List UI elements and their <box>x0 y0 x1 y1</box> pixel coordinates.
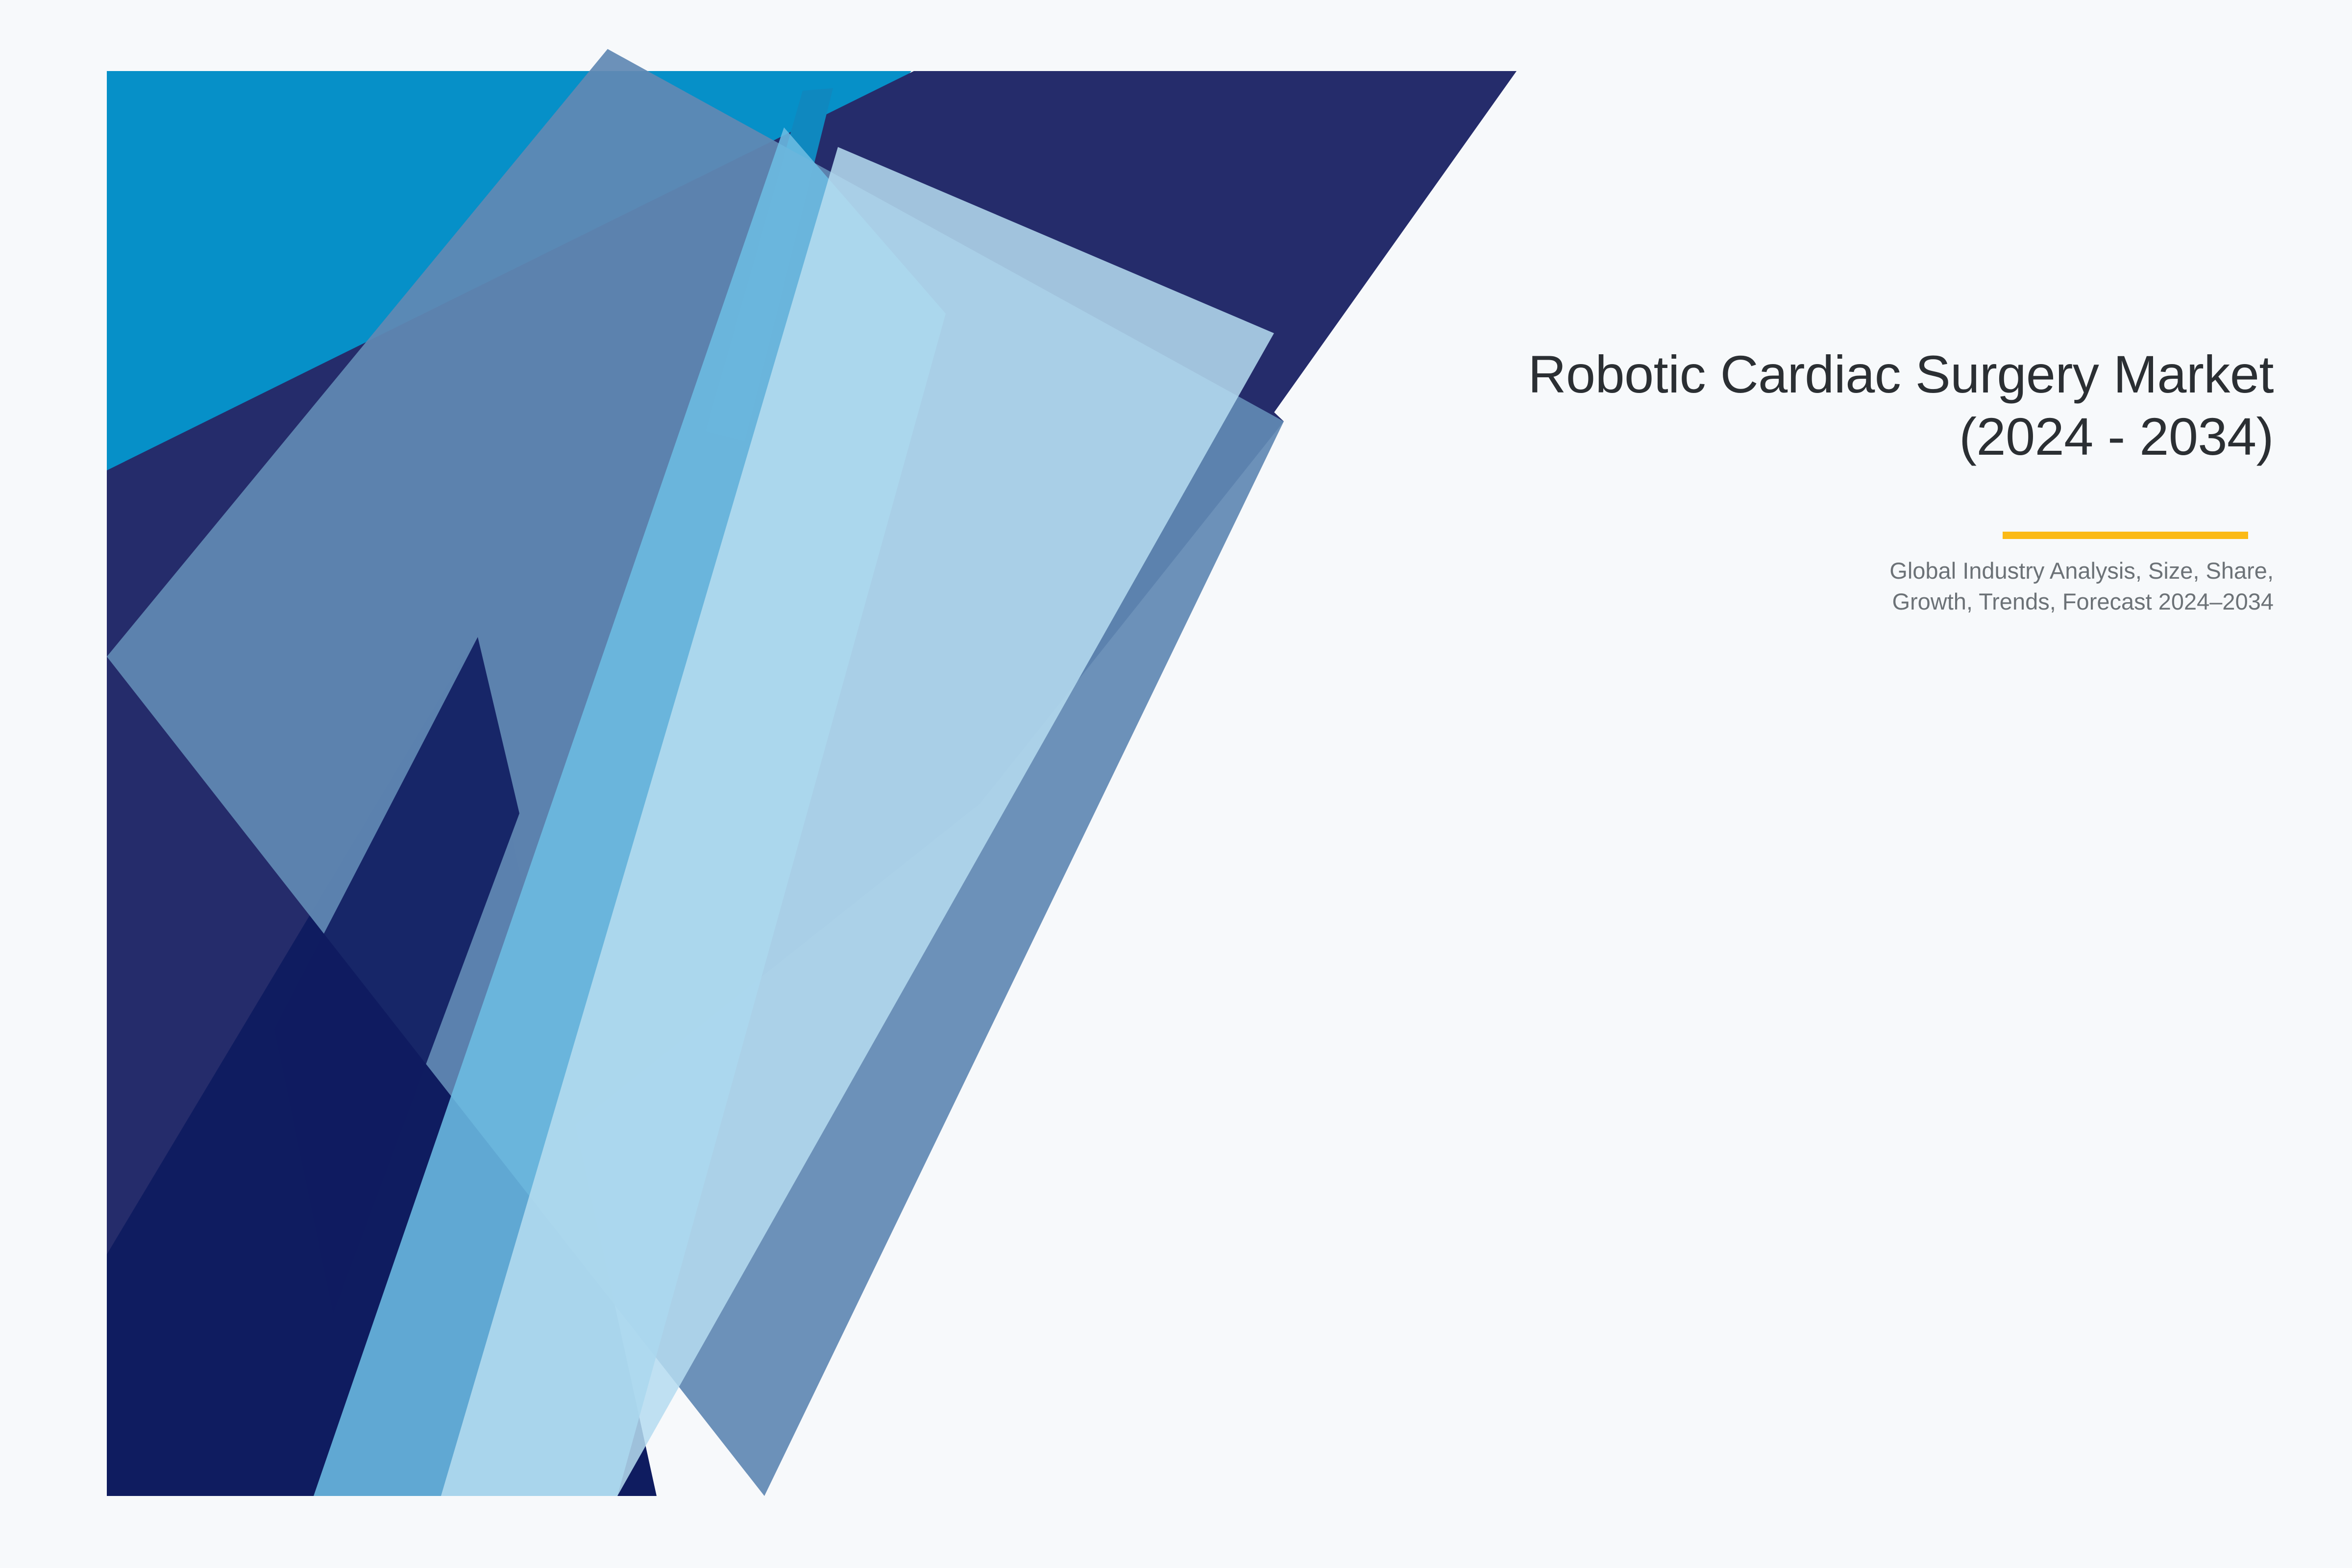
cover-artwork <box>0 0 1568 1568</box>
page-title: Robotic Cardiac Surgery Market (2024 - 2… <box>980 343 2274 468</box>
title-accent-bar <box>2003 532 2248 539</box>
cover-text-column: Robotic Cardiac Surgery Market (2024 - 2… <box>980 343 2274 617</box>
abstract-geometric-graphic <box>0 0 1568 1568</box>
cover-page: Robotic Cardiac Surgery Market (2024 - 2… <box>0 0 2352 1568</box>
page-subtitle: Global Industry Analysis, Size, Share, G… <box>980 468 2274 617</box>
title-block: Robotic Cardiac Surgery Market (2024 - 2… <box>980 343 2274 468</box>
